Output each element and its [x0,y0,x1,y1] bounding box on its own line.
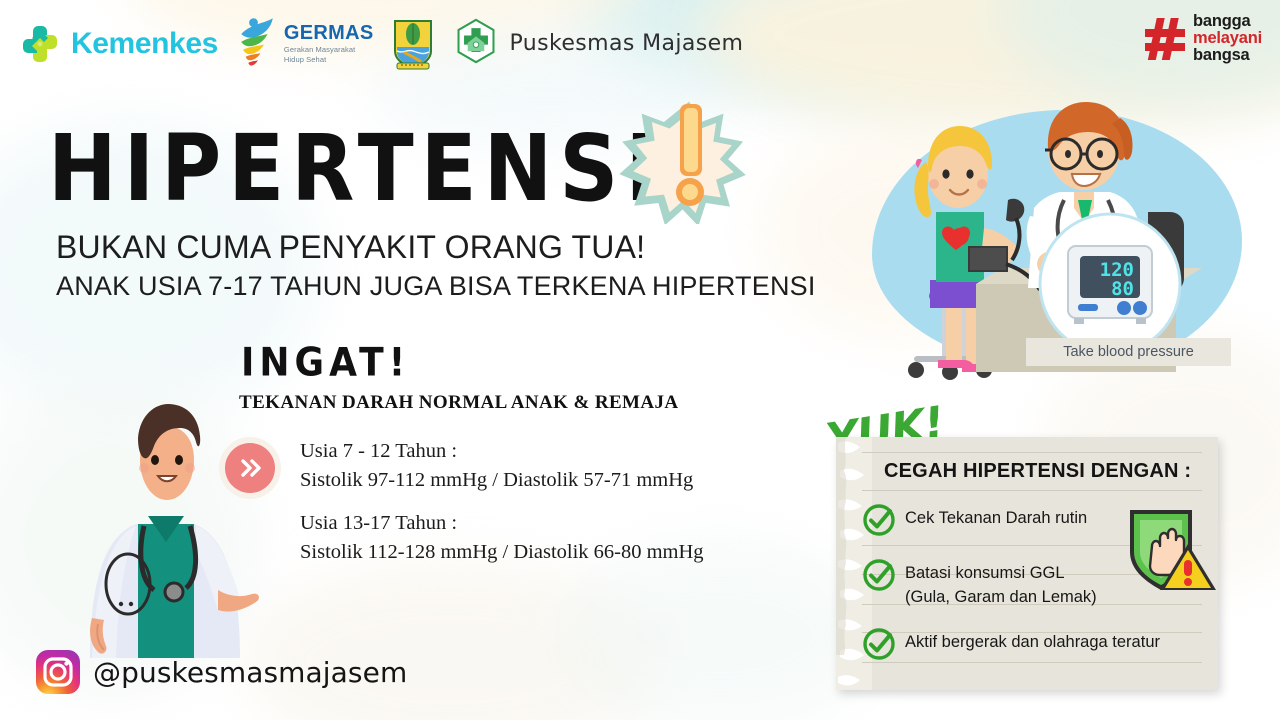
prevention-item-1: Cek Tekanan Darah rutin [862,503,1087,537]
bp-range-group-children: Usia 7 - 12 Tahun : Sistolik 97-112 mmHg… [300,437,693,495]
prevention-item-3-text: Aktif bergerak dan olahraga teratur [905,627,1160,655]
notepad-rule [862,490,1202,491]
bangga-text-block: bangga melayani bangsa [1193,13,1262,64]
bangga-line1: bangga [1193,13,1262,30]
poster-canvas: Kemenkes GERMAS Gerakan M [0,0,1280,720]
germas-tagline: Gerakan Masyarakat Hidup Sehat [284,45,374,64]
exclamation-burst-icon [618,92,758,224]
prevention-item-3: Aktif bergerak dan olahraga teratur [862,627,1160,661]
prevention-item-1-text: Cek Tekanan Darah rutin [905,503,1087,531]
germas-text-block: GERMAS Gerakan Masyarakat Hidup Sehat [284,23,374,64]
bp-values-2: Sistolik 112-128 mmHg / Diastolik 66-80 … [300,538,704,567]
instagram-handle[interactable]: @puskesmasmajasem [93,656,407,689]
hashtag-icon [1144,16,1186,62]
kemenkes-label: Kemenkes [71,27,218,61]
germas-tagline-line1: Gerakan Masyarakat [284,45,374,54]
bangga-melayani-bangsa-logo: bangga melayani bangsa [1144,13,1262,64]
prevention-item-2-line2: (Gula, Garam dan Lemak) [905,586,1097,610]
bangga-line2: melayani [1193,30,1262,47]
germas-figure-icon [236,14,278,73]
kemenkes-flower-icon [18,22,62,66]
bp-values-1: Sistolik 97-112 mmHg / Diastolik 57-71 m… [300,466,693,495]
check-circle-icon [862,503,896,537]
instagram-footer[interactable]: @puskesmasmajasem [36,650,407,694]
subtitle-line-2: ANAK USIA 7-17 TAHUN JUGA BISA TERKENA H… [56,271,816,302]
notepad-rule [862,662,1202,663]
doctor-patient-illustration: 120 80 Take blood pressure [858,88,1278,398]
puskesmas-label: Puskesmas Majasem [509,31,743,56]
germas-tagline-line2: Hidup Sehat [284,55,374,64]
partner-logos: Kemenkes GERMAS Gerakan M [18,14,743,73]
page-title: HIPERTENSI [48,116,663,222]
take-blood-pressure-caption: Take blood pressure [1026,338,1231,366]
kemenkes-logo: Kemenkes [18,22,218,66]
bangga-line3: bangsa [1193,47,1262,64]
kota-cirebon-crest-icon [391,17,435,71]
prevention-title: CEGAH HIPERTENSI DENGAN : [884,460,1191,483]
check-circle-icon [862,558,896,592]
prevention-item-2: Batasi konsumsi GGL (Gula, Garam dan Lem… [862,558,1097,610]
puskesmas-cross-icon [453,18,499,69]
germas-name: GERMAS [284,23,374,43]
subtitle-line-1: BUKAN CUMA PENYAKIT ORANG TUA! [56,229,645,266]
puskesmas-majasem-logo: Puskesmas Majasem [453,18,743,69]
prevention-item-2-text-block: Batasi konsumsi GGL (Gula, Garam dan Lem… [905,558,1097,610]
notepad-rule [862,452,1202,453]
background-wash [240,560,660,720]
check-circle-icon [862,627,896,661]
monitor-diastolic-value: 80 [1111,278,1134,300]
double-chevron-icon [225,443,275,493]
germas-logo: GERMAS Gerakan Masyarakat Hidup Sehat [236,14,374,73]
shield-hand-warning-icon [1118,502,1218,594]
bp-range-group-teens: Usia 13-17 Tahun : Sistolik 112-128 mmHg… [300,509,704,567]
instagram-icon[interactable] [36,650,80,694]
chevron-badge [219,437,281,499]
bp-age-label-1: Usia 7 - 12 Tahun : [300,437,693,466]
bp-age-label-2: Usia 13-17 Tahun : [300,509,704,538]
ingat-heading: INGAT! [241,341,410,385]
prevention-item-2-line1: Batasi konsumsi GGL [905,558,1097,586]
ingat-subheading: TEKANAN DARAH NORMAL ANAK & REMAJA [239,392,679,414]
header-logo-bar: Kemenkes GERMAS Gerakan M [0,0,1280,86]
